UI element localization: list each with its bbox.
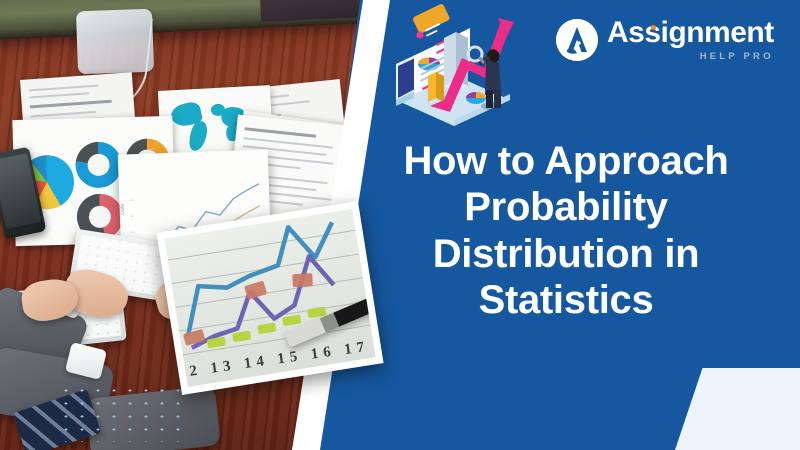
bottom-right-angled-shape	[675, 368, 800, 450]
dot-grid-pattern	[58, 384, 180, 442]
headline-line-2: Probability	[340, 184, 792, 230]
brand-logo[interactable]: Assignment HELP PRO	[556, 18, 774, 62]
donut-chart	[75, 141, 122, 188]
headline-line-4: Statistics	[340, 277, 792, 323]
logo-accent-dot	[651, 25, 656, 30]
headline-line-1: How to Approach	[340, 138, 792, 184]
logo-name: Assignment	[607, 18, 774, 48]
data-analysis-illustration	[374, 2, 526, 128]
logo-tagline: HELP PRO	[607, 52, 774, 62]
illustration-svg	[374, 2, 526, 128]
headline-line-3: Distribution in	[340, 231, 792, 277]
assignment-help-pro-logo-icon	[556, 19, 598, 61]
svg-text:Data: Data	[119, 204, 125, 215]
chat-bubble-graphic	[412, 3, 450, 39]
banner-canvas: Data	[0, 0, 800, 450]
small-pie-graphic	[466, 92, 486, 104]
page-title: How to Approach Probability Distribution…	[340, 138, 792, 324]
